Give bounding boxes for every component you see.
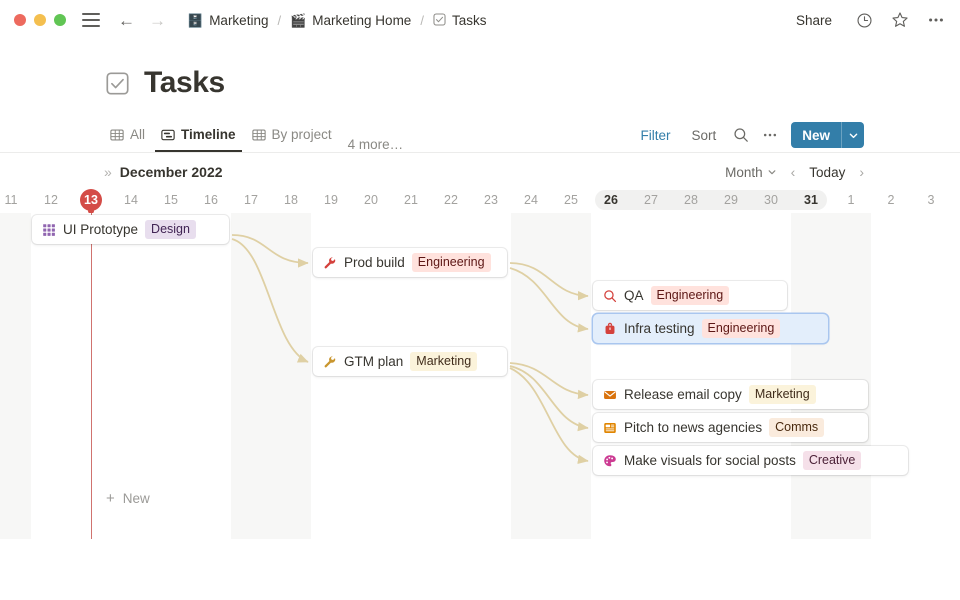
envelope-icon — [602, 387, 617, 402]
tab-more-views[interactable]: 4 more… — [342, 137, 410, 152]
date-cell[interactable]: 3 — [911, 187, 951, 213]
card-title: QA — [624, 288, 644, 303]
timeline-zoom-label: Month — [725, 165, 763, 180]
timeline-card-make-visuals[interactable]: Make visuals for social postsCreative — [593, 446, 908, 475]
add-new-item-label: New — [123, 491, 150, 506]
card-tag: Marketing — [749, 385, 816, 404]
breadcrumb-separator: / — [273, 13, 285, 28]
date-cell[interactable]: 11 — [0, 187, 31, 213]
date-cell[interactable]: 12 — [31, 187, 71, 213]
page-title-row: Tasks — [104, 66, 960, 100]
card-title: UI Prototype — [63, 222, 138, 237]
date-cell[interactable]: 30 — [751, 187, 791, 213]
card-title: Infra testing — [624, 321, 695, 336]
page-header: Tasks — [0, 40, 960, 100]
breadcrumb-item-marketing-home[interactable]: 🎬 Marketing Home — [285, 10, 416, 31]
breadcrumb: 🗄️ Marketing / 🎬 Marketing Home / Tasks — [182, 10, 491, 31]
date-cell[interactable]: 26 — [591, 187, 631, 213]
timeline-toolbar: » December 2022 Month ‹ Today › — [0, 157, 960, 187]
close-window-button[interactable] — [14, 14, 26, 26]
clapper-board-icon: 🎬 — [290, 14, 306, 27]
grid-dots-icon — [41, 222, 56, 237]
timeline-today-button[interactable]: Today — [809, 165, 845, 180]
tab-label: Timeline — [181, 127, 236, 142]
date-cell[interactable]: 25 — [551, 187, 591, 213]
breadcrumb-label: Marketing — [209, 13, 268, 28]
page-title: Tasks — [144, 66, 225, 100]
date-cell[interactable]: 20 — [351, 187, 391, 213]
tab-label: By project — [272, 127, 332, 142]
sidebar-toggle-icon[interactable] — [82, 13, 100, 27]
timeline-card-prod-build[interactable]: Prod buildEngineering — [313, 248, 507, 277]
tab-label: All — [130, 127, 145, 142]
timeline-card-infra-testing[interactable]: Infra testingEngineering — [593, 314, 828, 343]
breadcrumb-separator: / — [416, 13, 428, 28]
weekend-column — [511, 213, 551, 539]
timeline-card-gtm-plan[interactable]: GTM planMarketing — [313, 347, 507, 376]
date-cell[interactable]: 29 — [711, 187, 751, 213]
palette-icon — [602, 453, 617, 468]
weekend-column — [271, 213, 311, 539]
timeline-month-label: December 2022 — [120, 164, 223, 180]
card-title: Make visuals for social posts — [624, 453, 796, 468]
card-title: Release email copy — [624, 387, 742, 402]
card-tag: Marketing — [410, 352, 477, 371]
notion-window: ← → 🗄️ Marketing / 🎬 Marketing Home / Ta… — [0, 0, 960, 600]
breadcrumb-label: Tasks — [452, 13, 487, 28]
checkbox-icon — [433, 13, 446, 28]
weekend-column — [551, 213, 591, 539]
timeline-icon — [161, 128, 175, 142]
date-cell[interactable]: 2 — [871, 187, 911, 213]
card-title: Prod build — [344, 255, 405, 270]
view-tabs: All Timeline By project 4 more… — [104, 118, 409, 152]
date-cell[interactable]: 16 — [191, 187, 231, 213]
date-cell[interactable]: 1 — [831, 187, 871, 213]
date-cell[interactable]: 22 — [431, 187, 471, 213]
tab-by-project[interactable]: By project — [246, 119, 338, 152]
plus-icon: + — [106, 491, 115, 506]
search-icon[interactable] — [733, 127, 749, 143]
timeline-prev-button[interactable]: ‹ — [791, 164, 796, 180]
date-cell[interactable]: 19 — [311, 187, 351, 213]
date-cell[interactable]: 24 — [511, 187, 551, 213]
clock-icon[interactable] — [854, 10, 874, 30]
date-cell[interactable]: 21 — [391, 187, 431, 213]
view-actions: Filter Sort New — [636, 118, 864, 152]
breadcrumb-label: Marketing Home — [312, 13, 411, 28]
newspaper-icon — [602, 420, 617, 435]
timeline-date-ruler[interactable]: 1112131415161718192021222324252627282930… — [0, 187, 960, 213]
breadcrumb-item-marketing[interactable]: 🗄️ Marketing — [182, 10, 273, 31]
card-tag: Engineering — [702, 319, 781, 338]
card-tag: Engineering — [651, 286, 730, 305]
breadcrumb-item-tasks[interactable]: Tasks — [428, 10, 492, 31]
more-horizontal-icon[interactable] — [926, 10, 946, 30]
view-more-icon[interactable] — [762, 127, 778, 143]
chevron-down-icon[interactable] — [841, 122, 864, 148]
timeline-card-release-email[interactable]: Release email copyMarketing — [593, 380, 868, 409]
table-icon — [110, 128, 124, 142]
filter-button[interactable]: Filter — [636, 126, 674, 145]
date-cell[interactable]: 28 — [671, 187, 711, 213]
date-cell[interactable]: 18 — [271, 187, 311, 213]
date-cell[interactable]: 23 — [471, 187, 511, 213]
titlebar-actions: Share — [790, 0, 946, 40]
minimize-window-button[interactable] — [34, 14, 46, 26]
card-title: Pitch to news agencies — [624, 420, 762, 435]
weekend-column — [0, 213, 31, 539]
share-button[interactable]: Share — [790, 10, 838, 31]
page-checkbox-icon[interactable] — [104, 70, 130, 96]
timeline-card-pitch-news[interactable]: Pitch to news agenciesComms — [593, 413, 868, 442]
backpack-icon — [602, 321, 617, 336]
search-icon — [602, 288, 617, 303]
timeline-card-ui-prototype[interactable]: UI PrototypeDesign — [32, 215, 229, 244]
tab-timeline[interactable]: Timeline — [155, 119, 242, 152]
chevron-down-icon — [767, 167, 777, 177]
weekend-column — [831, 213, 871, 539]
timeline-range-controls: Month ‹ Today › — [725, 157, 864, 187]
forward-arrow-icon[interactable]: → — [149, 12, 166, 29]
traffic-lights — [14, 14, 66, 26]
tab-all[interactable]: All — [104, 119, 151, 152]
date-cell[interactable]: 17 — [231, 187, 271, 213]
timeline-canvas[interactable]: UI PrototypeDesignProd buildEngineeringG… — [0, 213, 960, 539]
new-button[interactable]: New — [791, 122, 864, 148]
card-tag: Design — [145, 220, 196, 239]
nav-arrows: ← → — [118, 12, 166, 29]
database-icon: 🗄️ — [187, 14, 203, 27]
new-button-label: New — [791, 122, 841, 148]
timeline-month-group: » December 2022 — [104, 164, 223, 180]
table-icon — [252, 128, 266, 142]
date-cell[interactable]: 15 — [151, 187, 191, 213]
card-title: GTM plan — [344, 354, 403, 369]
card-tag: Comms — [769, 418, 824, 437]
timeline-next-button[interactable]: › — [859, 164, 864, 180]
back-arrow-icon[interactable]: ← — [118, 12, 135, 29]
timeline-zoom-select[interactable]: Month — [725, 165, 777, 180]
wrench-icon — [322, 354, 337, 369]
weekend-column — [231, 213, 271, 539]
timeline-card-qa[interactable]: QAEngineering — [593, 281, 787, 310]
date-cell[interactable]: 31 — [791, 187, 831, 213]
today-vertical-line — [91, 213, 92, 539]
star-icon[interactable] — [890, 10, 910, 30]
wrench-icon — [322, 255, 337, 270]
card-tag: Engineering — [412, 253, 491, 272]
maximize-window-button[interactable] — [54, 14, 66, 26]
date-cell[interactable]: 27 — [631, 187, 671, 213]
weekend-column — [791, 213, 831, 539]
date-cell[interactable]: 14 — [111, 187, 151, 213]
card-tag: Creative — [803, 451, 862, 470]
collapse-sidebar-icon[interactable]: » — [104, 164, 110, 180]
window-titlebar: ← → 🗄️ Marketing / 🎬 Marketing Home / Ta… — [0, 0, 960, 40]
sort-button[interactable]: Sort — [687, 126, 720, 145]
timeline-bottom-spacer — [0, 554, 960, 600]
view-tabs-bar: All Timeline By project 4 more… Filter S… — [0, 118, 960, 153]
add-new-item-button[interactable]: +New — [100, 487, 156, 510]
